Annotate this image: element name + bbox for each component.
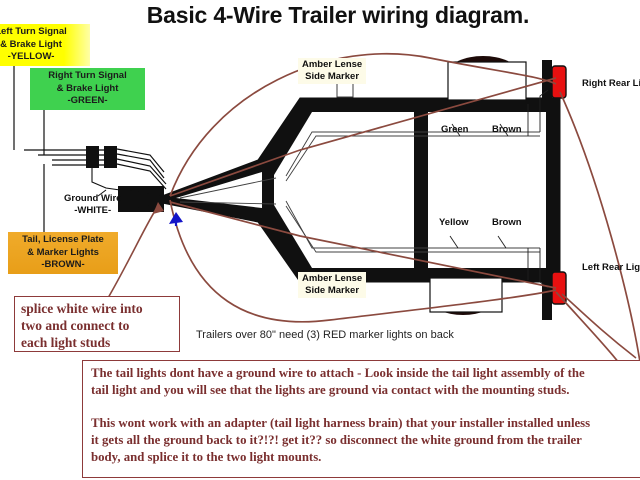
label-left-turn-line2: & Brake Light	[0, 39, 87, 52]
label-side-marker-top-line1: Amber Lense	[302, 59, 362, 71]
connector-block-female	[86, 146, 99, 168]
label-tail-marker-line3: -BROWN-	[11, 259, 115, 272]
label-ground-line1: Ground Wire	[64, 193, 121, 205]
callout-main-p1-l2: tail light and you will see that the lig…	[91, 382, 640, 399]
label-side-marker-top: Amber Lense Side Marker	[298, 58, 366, 84]
callout-main-p2-l3: body, and splice it to the two light mou…	[91, 449, 640, 466]
label-right-rear-light: Right Rear Light	[582, 78, 640, 90]
harness-leads-left	[24, 150, 86, 165]
label-left-turn-line3: -YELLOW-	[0, 51, 87, 64]
callout-splice-white-wire: splice white wire into two and connect t…	[14, 296, 180, 352]
rear-upright-bottom	[542, 274, 552, 320]
label-ground-wire: Ground Wire -WHITE-	[64, 193, 121, 217]
wiring-diagram-canvas: Basic 4-Wire Trailer wiring diagram. Lef…	[0, 0, 640, 480]
connector-pins	[99, 150, 104, 165]
harness-leads-right	[117, 149, 166, 189]
side-marker-top-lens	[337, 83, 353, 97]
label-left-turn-yellow: Left Turn Signal & Brake Light -YELLOW-	[0, 24, 90, 66]
page-title: Basic 4-Wire Trailer wiring diagram.	[88, 2, 588, 29]
callout-main-p2-l1: This wont work with an adapter (tail lig…	[91, 415, 640, 432]
label-side-marker-top-line2: Side Marker	[302, 71, 362, 83]
label-tail-marker-brown: Tail, License Plate & Marker Lights -BRO…	[8, 232, 118, 274]
label-left-turn-line1: Left Turn Signal	[0, 26, 87, 39]
label-wire-green: Green	[441, 124, 468, 136]
label-wire-yellow: Yellow	[439, 217, 469, 229]
label-right-turn-line1: Right Turn Signal	[33, 70, 142, 83]
route-right-lower-1	[560, 92, 640, 362]
main-note-arrow-line	[562, 294, 636, 358]
label-side-marker-bottom-line1: Amber Lense	[302, 273, 362, 285]
label-ground-line2: -WHITE-	[64, 205, 121, 217]
label-right-turn-green: Right Turn Signal & Brake Light -GREEN-	[30, 68, 145, 110]
right-rear-lamp-lens	[552, 66, 566, 98]
callout-splice-line3: each light studs	[21, 334, 173, 351]
callout-splice-line1: splice white wire into	[21, 300, 173, 317]
label-wire-brown-top: Brown	[492, 124, 522, 136]
label-side-marker-bottom-line2: Side Marker	[302, 285, 362, 297]
callout-ground-explanation: The tail lights dont have a ground wire …	[82, 360, 640, 478]
top-fender	[448, 62, 526, 100]
note-marker-lights: Trailers over 80" need (3) RED marker li…	[196, 329, 454, 341]
label-right-turn-line2: & Brake Light	[33, 83, 142, 96]
connector-block-male	[104, 146, 117, 168]
callout-main-paragraph-gap	[91, 399, 640, 415]
callout-main-p2-l2: it gets all the ground back to it?!?! ge…	[91, 432, 640, 449]
label-tail-marker-line1: Tail, License Plate	[11, 234, 115, 247]
label-side-marker-bottom: Amber Lense Side Marker	[298, 272, 366, 298]
label-wire-brown-bottom: Brown	[492, 217, 522, 229]
label-left-rear-light: Left Rear Light	[582, 262, 640, 274]
label-right-turn-line3: -GREEN-	[33, 95, 142, 108]
callout-splice-line2: two and connect to	[21, 317, 173, 334]
callout-main-p1-l1: The tail lights dont have a ground wire …	[91, 365, 640, 382]
label-tail-marker-line2: & Marker Lights	[11, 247, 115, 260]
